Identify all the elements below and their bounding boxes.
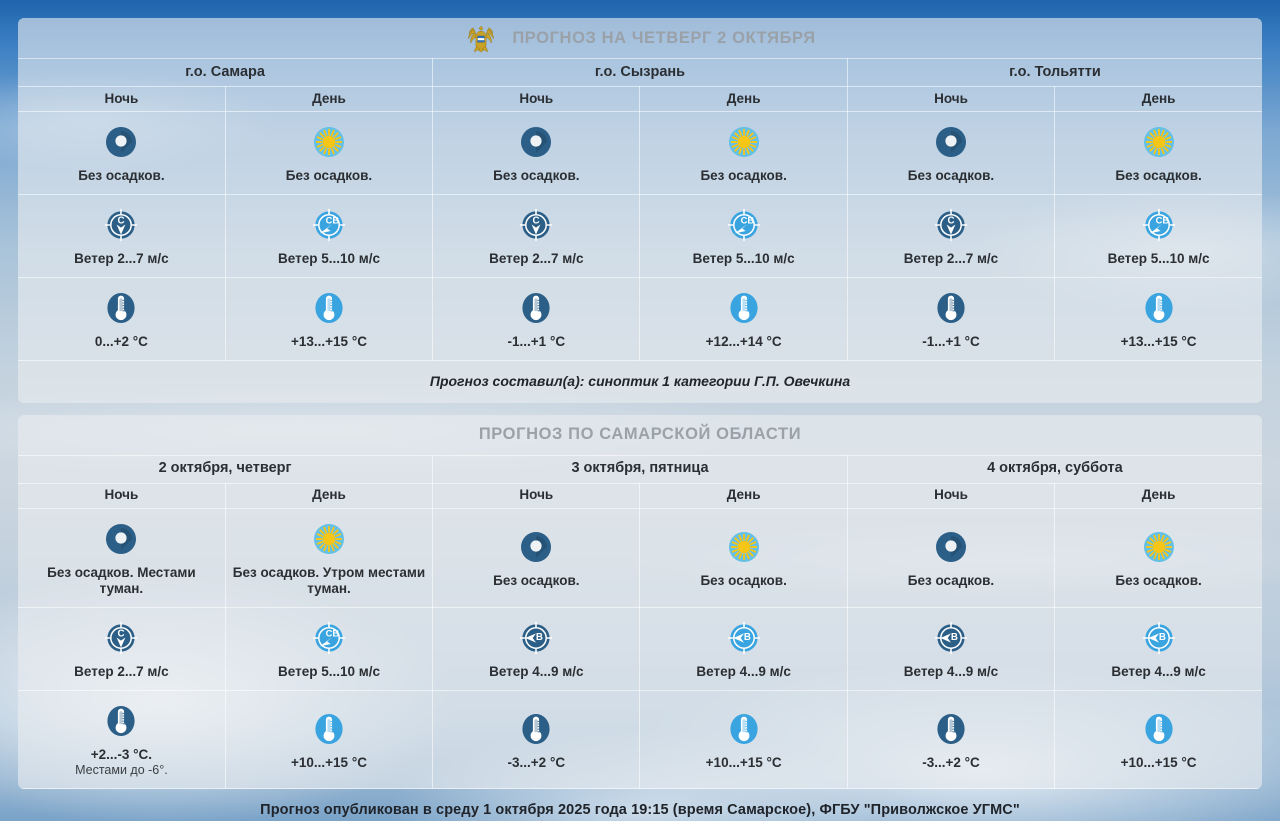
city-name-syzran: г.о. Сызрань xyxy=(433,59,848,87)
forecast-cell-label: Ветер 5...10 м/с xyxy=(232,664,426,680)
forecast-cell-label: Ветер 5...10 м/с xyxy=(646,251,840,267)
wind-compass-icon: С xyxy=(515,204,557,246)
temperature-row: 0...+2 °C+13...+15 °C-1...+1 °C+12...+14… xyxy=(18,277,1262,360)
moon-icon xyxy=(515,121,557,163)
period-label: Ночь xyxy=(18,483,225,508)
sun-icon xyxy=(723,526,765,568)
forecast-cell: Без осадков. xyxy=(640,508,847,607)
wind-compass-icon: С xyxy=(100,617,142,659)
period-label: Ночь xyxy=(433,483,640,508)
forecast-cell: СВВетер 5...10 м/с xyxy=(225,194,432,277)
thermometer-icon xyxy=(1138,287,1180,329)
wind-compass-icon: СВ xyxy=(308,617,350,659)
forecast-cell-label: Ветер 2...7 м/с xyxy=(439,251,633,267)
city-name-samara: г.о. Самара xyxy=(18,59,433,87)
period-label: День xyxy=(1055,87,1262,112)
sky-condition-row: Без осадков. Местами туман.Без осадков. … xyxy=(18,508,1262,607)
period-label: Ночь xyxy=(433,87,640,112)
panel-region-forecast: ПРОГНОЗ ПО САМАРСКОЙ ОБЛАСТИ 2 октября, … xyxy=(18,415,1262,790)
panel2-header: ПРОГНОЗ ПО САМАРСКОЙ ОБЛАСТИ xyxy=(18,415,1262,455)
forecast-cell: ВВетер 4...9 м/с xyxy=(847,607,1054,690)
forecast-cell: Без осадков. Утром местами туман. xyxy=(225,508,432,607)
forecast-cell: +12...+14 °C xyxy=(640,277,847,360)
svg-text:СВ: СВ xyxy=(1155,214,1169,225)
wind-compass-icon: СВ xyxy=(1138,204,1180,246)
thermometer-icon xyxy=(308,287,350,329)
thermometer-icon xyxy=(1138,708,1180,750)
svg-text:С: С xyxy=(947,215,954,226)
forecast-cell-label: Без осадков. xyxy=(1061,168,1256,184)
forecast-cell-label: Без осадков. xyxy=(854,168,1048,184)
period-label: День xyxy=(640,483,847,508)
wind-compass-icon: В xyxy=(723,617,765,659)
thermometer-icon xyxy=(723,287,765,329)
city-name-tolyatti: г.о. Тольятти xyxy=(847,59,1262,87)
forecast-cell: +13...+15 °C xyxy=(225,277,432,360)
region-forecast-table: 2 октября, четверг 3 октября, пятница 4 … xyxy=(18,455,1262,790)
wind-row: СВетер 2...7 м/сСВВетер 5...10 м/сСВетер… xyxy=(18,194,1262,277)
forecast-cell: Без осадков. xyxy=(847,112,1054,195)
sun-icon xyxy=(308,518,350,560)
forecast-cell-sublabel: Местами до -6°. xyxy=(24,763,219,778)
period-label: Ночь xyxy=(18,87,225,112)
svg-text:В: В xyxy=(951,632,958,643)
sun-icon xyxy=(1138,526,1180,568)
thermometer-icon xyxy=(515,287,557,329)
svg-text:В: В xyxy=(1158,632,1165,643)
forecast-cell-label: Ветер 5...10 м/с xyxy=(1061,251,1256,267)
forecast-cell-label: Ветер 5...10 м/с xyxy=(232,251,426,267)
period-label: Ночь xyxy=(847,483,1054,508)
forecast-cell: +13...+15 °C xyxy=(1055,277,1262,360)
forecast-cell-label: +12...+14 °C xyxy=(646,334,840,350)
thermometer-icon xyxy=(515,708,557,750)
wind-compass-icon: СВ xyxy=(308,204,350,246)
forecast-cell-label: Без осадков. Местами туман. xyxy=(24,565,219,597)
forecast-cell-label: 0...+2 °C xyxy=(24,334,219,350)
wind-row: СВетер 2...7 м/сСВВетер 5...10 м/сВВетер… xyxy=(18,607,1262,690)
sun-icon xyxy=(1138,121,1180,163)
panel1-title: ПРОГНОЗ НА ЧЕТВЕРГ 2 ОКТЯБРЯ xyxy=(512,29,815,48)
forecast-cell-label: Без осадков. xyxy=(646,573,840,589)
wind-compass-icon: В xyxy=(515,617,557,659)
svg-text:СВ: СВ xyxy=(326,214,340,225)
svg-text:СВ: СВ xyxy=(740,214,754,225)
forecast-cell-label: -3...+2 °C xyxy=(439,755,633,771)
moon-icon xyxy=(100,121,142,163)
thermometer-icon xyxy=(930,708,972,750)
forecast-cell: СВетер 2...7 м/с xyxy=(847,194,1054,277)
forecast-cell-label: +10...+15 °C xyxy=(1061,755,1256,771)
wind-compass-icon: В xyxy=(930,617,972,659)
period-label: День xyxy=(1055,483,1262,508)
wind-compass-icon: СВ xyxy=(723,204,765,246)
forecast-cell-label: Ветер 4...9 м/с xyxy=(439,664,633,680)
forecast-cell-label: Без осадков. xyxy=(646,168,840,184)
forecast-cell-label: +2...-3 °C. xyxy=(24,747,219,763)
forecast-cell-label: Ветер 4...9 м/с xyxy=(1061,664,1256,680)
forecast-cell: СВетер 2...7 м/с xyxy=(433,194,640,277)
moon-icon xyxy=(930,526,972,568)
svg-text:С: С xyxy=(533,215,540,226)
publication-note: Прогноз опубликован в среду 1 октября 20… xyxy=(18,789,1262,818)
forecast-cell-label: Ветер 4...9 м/с xyxy=(646,664,840,680)
forecast-cell: +10...+15 °C xyxy=(225,690,432,789)
forecast-cell: Без осадков. xyxy=(1055,112,1262,195)
forecast-cell: Без осадков. xyxy=(18,112,225,195)
sky-condition-row: Без осадков.Без осадков.Без осадков.Без … xyxy=(18,112,1262,195)
svg-text:СВ: СВ xyxy=(326,627,340,638)
date-thursday: 2 октября, четверг xyxy=(18,455,433,483)
forecast-cell-label: Ветер 2...7 м/с xyxy=(24,251,219,267)
forecast-cell: -3...+2 °C xyxy=(847,690,1054,789)
forecast-cell-label: Без осадков. xyxy=(854,573,1048,589)
date-header-row: 2 октября, четверг 3 октября, пятница 4 … xyxy=(18,455,1262,483)
forecast-cell-label: +13...+15 °C xyxy=(232,334,426,350)
forecast-page: ПРОГНОЗ НА ЧЕТВЕРГ 2 ОКТЯБРЯ г.о. Самара… xyxy=(0,0,1280,821)
forecast-cell: ВВетер 4...9 м/с xyxy=(640,607,847,690)
forecast-cell-label: Без осадков. xyxy=(232,168,426,184)
period-header-row: Ночь День Ночь День Ночь День xyxy=(18,483,1262,508)
svg-text:С: С xyxy=(118,215,125,226)
forecast-cell: СВетер 2...7 м/с xyxy=(18,607,225,690)
wind-compass-icon: С xyxy=(930,204,972,246)
forecast-cell-label: +13...+15 °C xyxy=(1061,334,1256,350)
thermometer-icon xyxy=(723,708,765,750)
forecast-cell: 0...+2 °C xyxy=(18,277,225,360)
forecast-cell: Без осадков. xyxy=(433,508,640,607)
panel1-header: ПРОГНОЗ НА ЧЕТВЕРГ 2 ОКТЯБРЯ xyxy=(18,18,1262,58)
forecast-cell: -3...+2 °C xyxy=(433,690,640,789)
moon-icon xyxy=(930,121,972,163)
svg-text:С: С xyxy=(118,628,125,639)
forecast-cell: СВВетер 5...10 м/с xyxy=(1055,194,1262,277)
forecast-cell-label: Ветер 2...7 м/с xyxy=(24,664,219,680)
forecaster-credit: Прогноз составил(а): синоптик 1 категори… xyxy=(18,361,1262,403)
moon-icon xyxy=(515,526,557,568)
forecast-cell-label: -3...+2 °C xyxy=(854,755,1048,771)
forecast-cell: +10...+15 °C xyxy=(1055,690,1262,789)
city-forecast-table: г.о. Самара г.о. Сызрань г.о. Тольятти Н… xyxy=(18,58,1262,361)
svg-text:В: В xyxy=(744,632,751,643)
forecast-cell: +10...+15 °C xyxy=(640,690,847,789)
forecast-cell-label: Без осадков. Утром местами туман. xyxy=(232,565,426,597)
period-label: Ночь xyxy=(847,87,1054,112)
forecast-cell-label: -1...+1 °C xyxy=(854,334,1048,350)
svg-text:В: В xyxy=(536,632,543,643)
wind-compass-icon: В xyxy=(1138,617,1180,659)
forecast-cell: Без осадков. xyxy=(847,508,1054,607)
city-header-row: г.о. Самара г.о. Сызрань г.о. Тольятти xyxy=(18,59,1262,87)
thermometer-icon xyxy=(100,700,142,742)
forecast-cell: СВетер 2...7 м/с xyxy=(18,194,225,277)
forecast-cell: СВВетер 5...10 м/с xyxy=(640,194,847,277)
forecast-cell: Без осадков. Местами туман. xyxy=(18,508,225,607)
forecast-cell: СВВетер 5...10 м/с xyxy=(225,607,432,690)
sun-icon xyxy=(308,121,350,163)
forecast-cell: Без осадков. xyxy=(640,112,847,195)
sun-icon xyxy=(723,121,765,163)
forecast-cell: -1...+1 °C xyxy=(433,277,640,360)
russian-coat-of-arms-emblem xyxy=(464,21,498,55)
period-label: День xyxy=(640,87,847,112)
period-label: День xyxy=(225,483,432,508)
temperature-row: +2...-3 °C.Местами до -6°.+10...+15 °C-3… xyxy=(18,690,1262,789)
forecast-cell: +2...-3 °C.Местами до -6°. xyxy=(18,690,225,789)
forecast-cell: Без осадков. xyxy=(433,112,640,195)
moon-icon xyxy=(100,518,142,560)
forecast-cell: ВВетер 4...9 м/с xyxy=(1055,607,1262,690)
wind-compass-icon: С xyxy=(100,204,142,246)
forecast-cell-label: Без осадков. xyxy=(1061,573,1256,589)
forecast-cell-label: Без осадков. xyxy=(439,573,633,589)
forecast-cell-label: Без осадков. xyxy=(439,168,633,184)
forecast-cell-label: -1...+1 °C xyxy=(439,334,633,350)
period-header-row: Ночь День Ночь День Ночь День xyxy=(18,87,1262,112)
forecast-cell-label: Ветер 4...9 м/с xyxy=(854,664,1048,680)
thermometer-icon xyxy=(308,708,350,750)
date-friday: 3 октября, пятница xyxy=(433,455,848,483)
period-label: День xyxy=(225,87,432,112)
forecast-cell-label: +10...+15 °C xyxy=(646,755,840,771)
forecast-cell-label: Ветер 2...7 м/с xyxy=(854,251,1048,267)
forecast-cell: -1...+1 °C xyxy=(847,277,1054,360)
date-saturday: 4 октября, суббота xyxy=(847,455,1262,483)
forecast-cell: Без осадков. xyxy=(225,112,432,195)
thermometer-icon xyxy=(930,287,972,329)
forecast-cell: ВВетер 4...9 м/с xyxy=(433,607,640,690)
forecast-cell: Без осадков. xyxy=(1055,508,1262,607)
thermometer-icon xyxy=(100,287,142,329)
panel2-title: ПРОГНОЗ ПО САМАРСКОЙ ОБЛАСТИ xyxy=(479,425,801,444)
forecast-cell-label: Без осадков. xyxy=(24,168,219,184)
panel-city-forecast: ПРОГНОЗ НА ЧЕТВЕРГ 2 ОКТЯБРЯ г.о. Самара… xyxy=(18,18,1262,403)
forecast-cell-label: +10...+15 °C xyxy=(232,755,426,771)
